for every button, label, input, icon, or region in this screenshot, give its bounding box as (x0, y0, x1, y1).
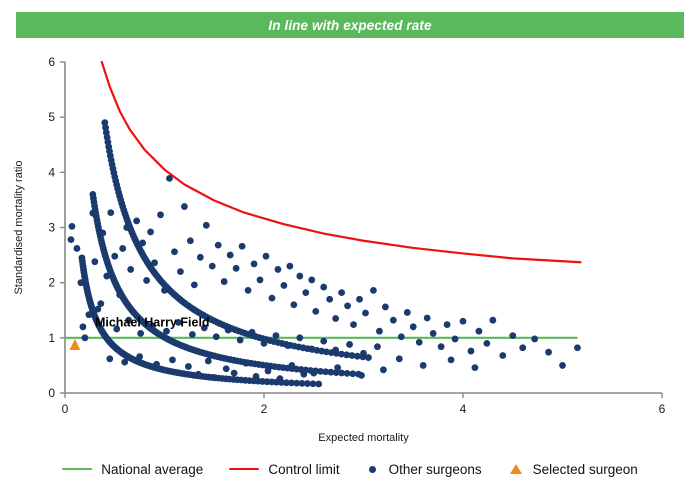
surgeon-point (275, 266, 282, 273)
y-axis-title: Standardised mortality ratio (13, 161, 25, 295)
line-icon (62, 462, 92, 476)
surgeon-point (356, 296, 363, 303)
surgeon-point (398, 333, 405, 340)
surgeon-point (308, 345, 315, 352)
surgeon-point (261, 340, 268, 347)
legend-item[interactable]: Control limit (229, 462, 339, 477)
surgeon-point (89, 210, 96, 217)
surgeon-point (231, 370, 238, 377)
surgeon-point (320, 338, 327, 345)
y-tick-labels: 0123456 (48, 55, 55, 400)
surgeon-point (249, 329, 256, 336)
surgeon-point (221, 278, 228, 285)
surgeon-point (215, 242, 222, 249)
surgeon-point (416, 339, 423, 346)
surgeon-point (265, 368, 272, 375)
surgeon-point (545, 349, 552, 356)
surgeon-point (245, 287, 252, 294)
surgeon-point (171, 248, 178, 255)
surgeon-point (349, 370, 356, 377)
surgeon-point (137, 330, 144, 337)
surgeon-point (468, 348, 475, 355)
surgeon-point (374, 343, 381, 350)
status-banner: In line with expected rate (16, 12, 684, 38)
surgeon-point (82, 334, 89, 341)
surgeon-point (284, 342, 291, 349)
surgeon-point (69, 223, 76, 230)
surgeon-point (205, 358, 212, 365)
line-icon (229, 462, 259, 476)
surgeon-point (452, 336, 459, 343)
surgeon-point (223, 365, 230, 372)
surgeon-point (420, 362, 427, 369)
surgeon-point (227, 252, 234, 259)
surgeon-point (213, 333, 220, 340)
x-tick-label: 4 (460, 402, 467, 416)
surgeon-point (489, 317, 496, 324)
surgeon-point (116, 291, 123, 298)
surgeon-point (344, 302, 351, 309)
surgeon-point (161, 287, 168, 294)
surgeon-point (519, 344, 526, 351)
surgeon-point (370, 287, 377, 294)
surgeon-point (424, 315, 431, 322)
surgeon-point (103, 273, 110, 280)
surgeon-point (326, 296, 333, 303)
legend-item[interactable]: Other surgeons (366, 462, 482, 477)
surgeon-point (127, 266, 134, 273)
status-banner-label: In line with expected rate (268, 18, 431, 33)
surgeon-point (99, 230, 106, 237)
surgeon-point (296, 334, 303, 341)
surgeon-point (68, 236, 75, 243)
surgeon-point (121, 359, 128, 366)
x-tick-label: 2 (261, 402, 268, 416)
surgeon-point (225, 327, 232, 334)
y-tick-label: 4 (48, 165, 55, 179)
surgeon-point (334, 364, 341, 371)
surgeon-point (273, 332, 280, 339)
surgeon-point (74, 245, 81, 252)
x-tick-labels: 0246 (62, 402, 666, 416)
surgeon-point (157, 211, 164, 218)
surgeon-point (286, 263, 293, 270)
surgeon-point (233, 265, 240, 272)
surgeon-point (136, 353, 143, 360)
surgeon-point (509, 332, 516, 339)
legend-item-label: Other surgeons (389, 462, 482, 477)
surgeon-point (312, 308, 319, 315)
y-tick-label: 5 (48, 110, 55, 124)
surgeon-point (320, 284, 327, 291)
surgeon-point (531, 336, 538, 343)
surgeon-point (169, 357, 176, 364)
surgeon-point (438, 343, 445, 350)
surgeon-point (360, 350, 367, 357)
surgeon-point (404, 309, 411, 316)
y-tick-label: 2 (48, 276, 55, 290)
surgeon-point (346, 341, 353, 348)
surgeon-point (410, 323, 417, 330)
surgeon-point (166, 175, 173, 182)
surgeon-point (380, 366, 387, 373)
surgeon-point (195, 371, 202, 378)
legend-item[interactable]: Selected surgeon (508, 462, 638, 477)
legend-item-label: National average (101, 462, 203, 477)
surgeon-point (430, 330, 437, 337)
surgeon-point (106, 355, 113, 362)
surgeon-point (191, 281, 198, 288)
triangle-marker-icon (508, 462, 524, 476)
surgeon-point (476, 328, 483, 335)
y-tick-label: 3 (48, 221, 55, 235)
surgeon-point (302, 289, 309, 296)
surgeon-point (197, 254, 204, 261)
chart-legend: National averageControl limitOther surge… (0, 452, 700, 486)
surgeon-point (85, 311, 92, 318)
surgeon-point (97, 300, 104, 307)
y-tick-label: 0 (48, 386, 55, 400)
surgeon-point (251, 261, 258, 268)
surgeon-point (332, 315, 339, 322)
y-tick-label: 6 (48, 55, 55, 69)
surgeon-point (239, 243, 246, 250)
surgeon-point (78, 279, 85, 286)
legend-item-label: Selected surgeon (533, 462, 638, 477)
surgeon-point (338, 289, 345, 296)
surgeon-point (153, 361, 160, 368)
surgeon-point (139, 240, 146, 247)
selected-surgeon-marker[interactable] (69, 339, 80, 350)
surgeon-point (483, 340, 490, 347)
surgeon-point (111, 253, 118, 260)
circle-marker-icon (366, 462, 380, 476)
surgeon-point (310, 370, 317, 377)
surgeon-point (315, 381, 322, 388)
surgeon-point (559, 362, 566, 369)
surgeon-point (358, 372, 365, 379)
surgeon-point (396, 355, 403, 362)
surgeon-point (253, 373, 260, 380)
surgeon-point (263, 253, 270, 260)
surgeon-point (574, 344, 581, 351)
surgeon-point (243, 360, 250, 367)
surgeon-point (362, 310, 369, 317)
chart-canvas: 0246 0123456 Expected mortality Standard… (0, 40, 700, 450)
surgeon-point (107, 209, 114, 216)
surgeon-point (460, 318, 467, 325)
x-tick-label: 6 (659, 402, 666, 416)
funnel-plot-widget: In line with expected rate 0246 0123456 … (0, 0, 700, 500)
surgeon-point (123, 224, 130, 231)
surgeon-point (203, 222, 210, 229)
surgeon-point (211, 374, 218, 381)
legend-item-label: Control limit (268, 462, 339, 477)
surgeon-point (296, 273, 303, 280)
surgeon-point (288, 362, 295, 369)
surgeon-point (209, 263, 216, 270)
surgeon-point (300, 371, 307, 378)
y-tick-label: 1 (48, 331, 55, 345)
surgeon-point (177, 268, 184, 275)
surgeon-point (181, 203, 188, 210)
surgeon-point (269, 295, 276, 302)
surgeon-point (277, 375, 284, 382)
surgeon-point (147, 229, 154, 236)
surgeon-point (237, 337, 244, 344)
surgeon-point (499, 352, 506, 359)
surgeon-point (151, 259, 158, 266)
other-surgeons-points (68, 119, 581, 387)
x-axis-title: Expected mortality (318, 432, 409, 444)
surgeon-point (91, 258, 98, 265)
surgeon-point (185, 363, 192, 370)
surgeon-point (350, 321, 357, 328)
surgeon-point (332, 347, 339, 354)
surgeon-point (80, 323, 87, 330)
control-limit-curve (102, 62, 581, 262)
surgeon-point (382, 304, 389, 311)
surgeon-point (143, 277, 150, 284)
selected-surgeon-annotation: Michael Harry Field (95, 315, 210, 329)
surgeon-point (308, 277, 315, 284)
surgeon-point (133, 217, 140, 224)
surgeon-point (119, 245, 126, 252)
x-tick-label: 0 (62, 402, 69, 416)
surgeon-point (390, 317, 397, 324)
surgeon-point (290, 301, 297, 308)
surgeon-point (448, 357, 455, 364)
surgeon-point (187, 237, 194, 244)
surgeon-point (281, 282, 288, 289)
legend-item[interactable]: National average (62, 462, 203, 477)
surgeon-point (444, 321, 451, 328)
surgeon-point (189, 331, 196, 338)
surgeon-point (472, 364, 479, 371)
funnel-plot-chart: 0246 0123456 Expected mortality Standard… (0, 40, 700, 450)
selected-surgeon-triangle[interactable] (69, 339, 80, 350)
surgeon-point (376, 328, 383, 335)
surgeon-point (257, 277, 264, 284)
